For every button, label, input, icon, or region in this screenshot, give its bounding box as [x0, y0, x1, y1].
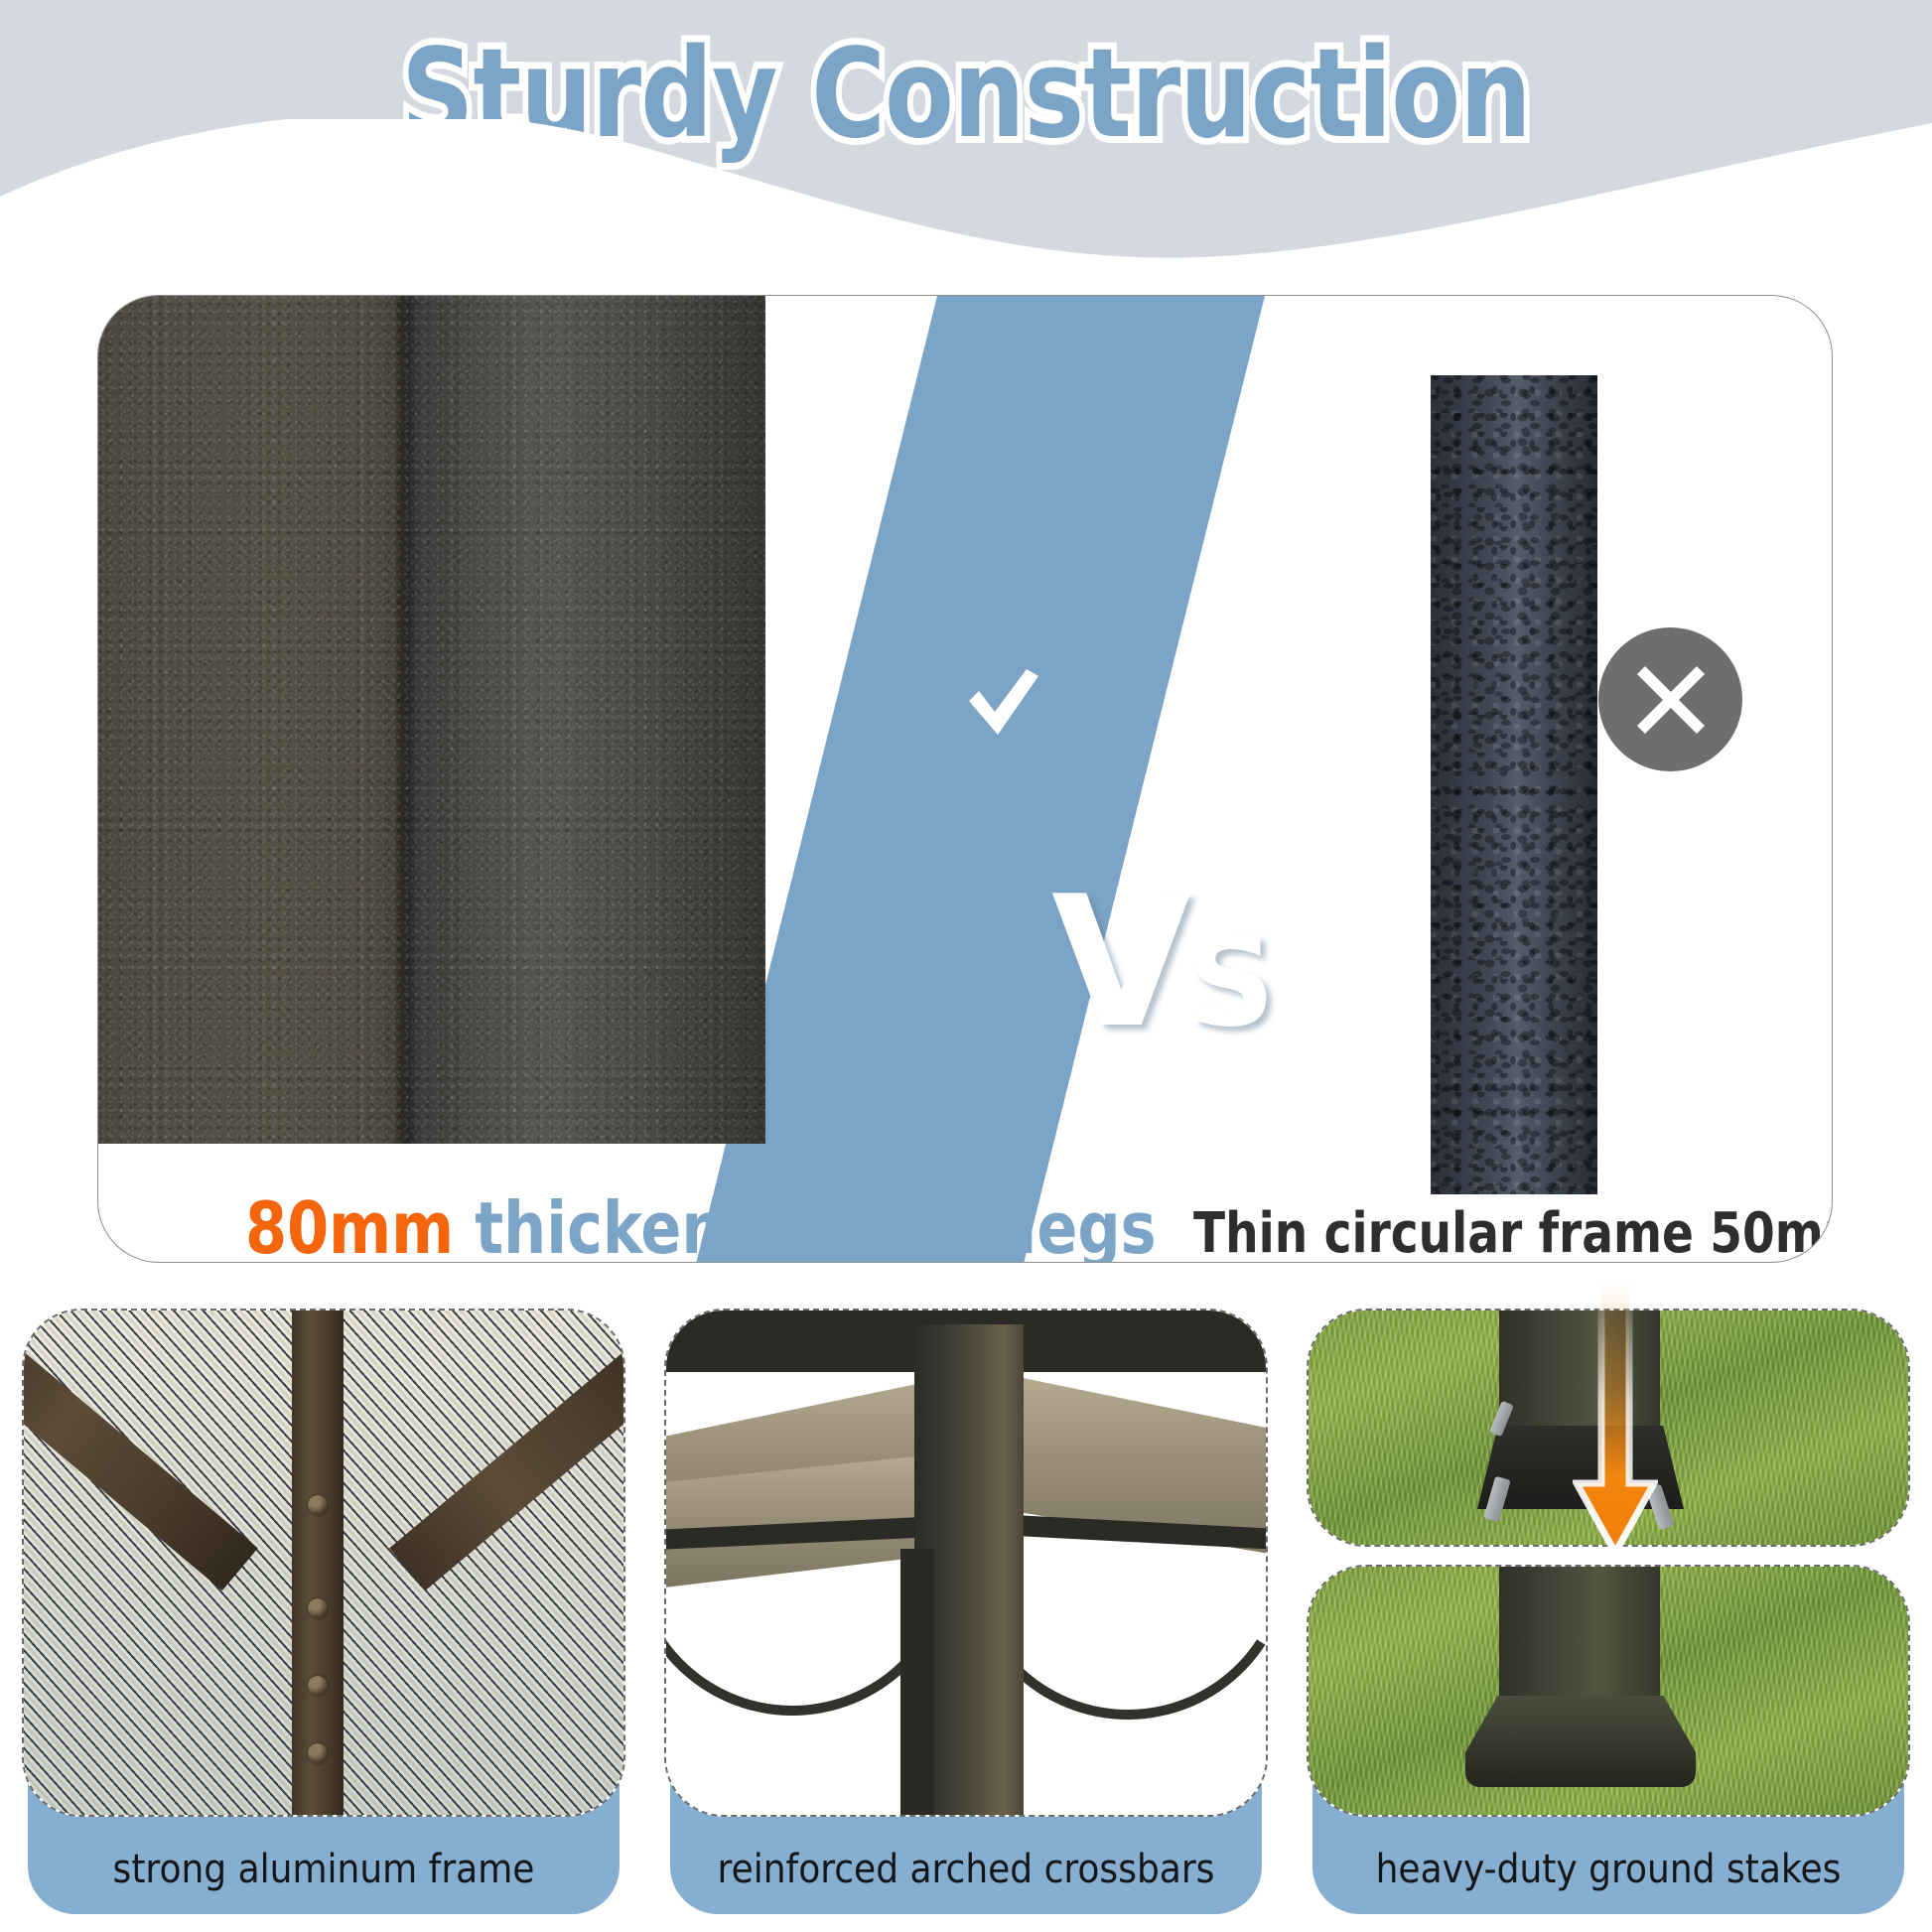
header-wave-decoration	[0, 119, 1932, 298]
good-caption-number: 80mm	[245, 1186, 454, 1263]
vs-diagonal-band	[682, 295, 1275, 1263]
comparison-card: VS 80mm thickened steel legs Thin circul…	[97, 295, 1833, 1263]
bad-caption: Thin circular frame 50mm(2")	[1193, 1206, 1833, 1262]
page-header: Sturdy Construction	[0, 0, 1932, 298]
panel-caption-ground-stakes: heavy-duty ground stakes	[1336, 1847, 1879, 1892]
good-caption: 80mm thickened steel legs	[245, 1192, 1157, 1263]
panel-caption-arched-crossbars: reinforced arched crossbars	[694, 1847, 1237, 1892]
vs-letter-v: V	[1051, 857, 1185, 1067]
vs-label: VS	[1051, 872, 1290, 1100]
feature-panel-ground-stakes: heavy-duty ground stakes	[1307, 1309, 1910, 1914]
ground-stake-base-cover	[1465, 1696, 1696, 1787]
bolt-3	[308, 1676, 328, 1696]
bolt-2	[308, 1598, 328, 1618]
ground-stakes-photo-after	[1307, 1565, 1910, 1817]
vs-letter-s: S	[1185, 908, 1276, 1054]
aluminum-frame-photo	[22, 1309, 625, 1817]
tube-texture-mottle	[1431, 375, 1597, 1194]
feature-panel-arched-crossbars: reinforced arched crossbars	[664, 1309, 1268, 1914]
back-post	[900, 1549, 934, 1817]
check-icon	[955, 655, 1050, 751]
cross-icon	[1630, 659, 1712, 741]
thin-circular-tube-photo	[1431, 375, 1597, 1194]
bolt-1	[308, 1495, 328, 1515]
leg-sheen	[405, 296, 765, 1144]
down-arrow-icon	[1573, 1279, 1658, 1562]
bolt-4	[308, 1743, 328, 1763]
feature-panel-aluminum-frame: strong aluminum frame	[22, 1309, 625, 1914]
good-caption-text: thickened steel legs	[454, 1186, 1156, 1263]
vertical-post	[292, 1311, 344, 1817]
check-badge	[925, 625, 1079, 779]
square-steel-leg-photo	[98, 296, 765, 1144]
panel-caption-aluminum-frame: strong aluminum frame	[52, 1847, 595, 1892]
cross-badge	[1598, 627, 1742, 771]
arched-crossbars-photo	[664, 1309, 1268, 1817]
